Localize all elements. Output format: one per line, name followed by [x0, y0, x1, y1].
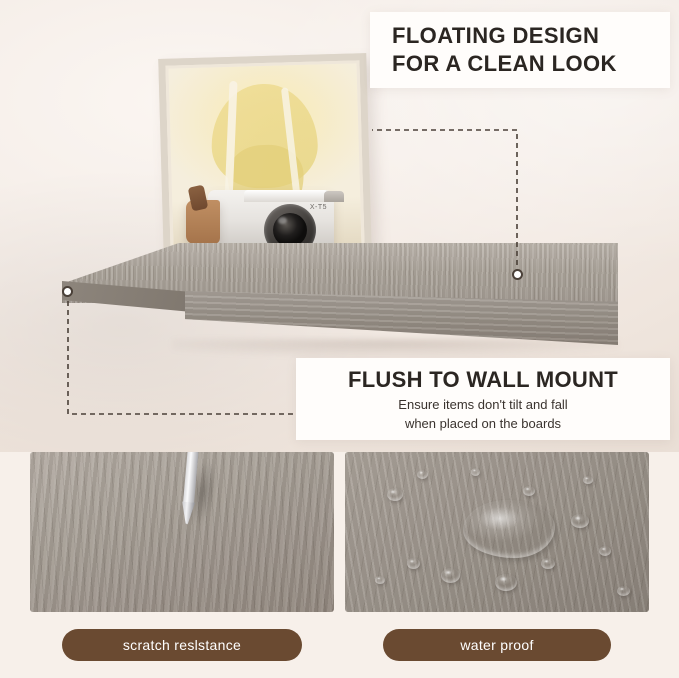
water-droplet [417, 470, 428, 479]
label-scratch-resistance: scratch reslstance [62, 629, 302, 661]
callout-anchor-dot-top [512, 269, 523, 280]
water-droplet [583, 476, 593, 484]
camera-top-plate [244, 190, 328, 202]
water-droplet [441, 568, 460, 583]
water-droplet [617, 586, 630, 596]
camera-lens-highlight [278, 217, 287, 224]
tile-scratch-resistance [30, 452, 334, 612]
product-infographic: X-T5 FLOATING DESIGN FOR A CLEAN LOOK FL… [0, 0, 679, 678]
water-droplet [571, 514, 589, 528]
callout-top-line1: FLOATING DESIGN [392, 22, 654, 50]
camera-dial [324, 191, 344, 202]
feature-tiles: scratch reslstance water proof [0, 452, 679, 678]
camera-body: X-T5 [208, 190, 334, 248]
camera: X-T5 [186, 182, 334, 252]
hero-photo: X-T5 FLOATING DESIGN FOR A CLEAN LOOK FL… [0, 0, 679, 452]
callout-flush-to-wall-mount: FLUSH TO WALL MOUNT Ensure items don't t… [296, 358, 670, 440]
tile-water-proof [345, 452, 649, 612]
water-droplet [375, 576, 385, 584]
water-droplet [541, 558, 555, 569]
camera-model-label: X-T5 [310, 204, 327, 211]
callout-floating-design: FLOATING DESIGN FOR A CLEAN LOOK [370, 12, 670, 88]
callout-bottom-title: FLUSH TO WALL MOUNT [310, 366, 656, 394]
water-droplet [407, 558, 420, 569]
screwdriver-icon [168, 452, 209, 535]
callout-bottom-subtitle-line1: Ensure items don't tilt and fall [310, 396, 656, 413]
callout-top-line2: FOR A CLEAN LOOK [392, 50, 654, 78]
callout-anchor-dot-bottom [62, 286, 73, 297]
label-water-proof: water proof [383, 629, 611, 661]
water-droplets-icon [387, 488, 403, 501]
water-droplet [599, 546, 611, 556]
floating-wood-shelf [62, 243, 618, 353]
water-droplet [523, 486, 535, 496]
water-droplet [471, 468, 480, 476]
water-droplet [495, 574, 517, 591]
water-puddle [463, 500, 555, 558]
callout-bottom-subtitle-line2: when placed on the boards [310, 415, 656, 432]
